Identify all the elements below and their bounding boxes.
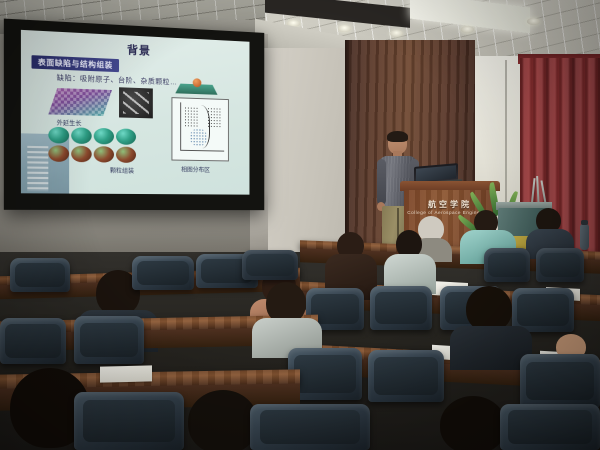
seat[interactable] xyxy=(520,354,600,408)
downlight-icon xyxy=(461,26,474,33)
seat[interactable] xyxy=(368,350,444,402)
slide-subtitle: 缺陷：吸附原子、台阶、杂质颗粒… xyxy=(57,73,178,88)
supported-cluster-figure xyxy=(175,77,217,94)
seat[interactable] xyxy=(370,286,432,330)
lecture-hall-photo: 背景 表面缺陷与结构组装 缺陷：吸附原子、台阶、杂质颗粒… 外延生长 颗粒组装 xyxy=(0,0,600,450)
projected-slide: 背景 表面缺陷与结构组装 缺陷：吸附原子、台阶、杂质颗粒… 外延生长 颗粒组装 xyxy=(21,30,250,195)
bottle-cap-icon xyxy=(581,220,588,225)
seat[interactable] xyxy=(536,248,584,282)
seat[interactable] xyxy=(250,404,370,450)
seat[interactable] xyxy=(242,250,298,280)
audience-head xyxy=(188,390,258,450)
seat[interactable] xyxy=(74,392,184,450)
seat[interactable] xyxy=(10,258,70,292)
presenter-hair xyxy=(387,131,408,142)
stm-micrograph-figure xyxy=(119,87,153,118)
nanoparticle-cluster-grid xyxy=(48,127,136,163)
slide-caption-right: 相图分布区 xyxy=(181,165,210,174)
slide-section-banner: 表面缺陷与结构组装 xyxy=(32,55,119,72)
seat[interactable] xyxy=(484,248,530,282)
seat[interactable] xyxy=(512,288,574,332)
lattice-surface-figure xyxy=(48,88,112,116)
slide-caption-center: 颗粒组装 xyxy=(110,166,134,175)
paper-sheet[interactable] xyxy=(100,365,152,382)
downlight-icon xyxy=(338,25,351,32)
seat[interactable] xyxy=(132,256,194,290)
seat[interactable] xyxy=(500,404,600,450)
water-bottle[interactable] xyxy=(580,224,589,250)
downlight-icon xyxy=(390,30,403,37)
audience-head xyxy=(440,396,506,450)
presenter-left-arm xyxy=(377,159,386,205)
seat[interactable] xyxy=(74,316,144,364)
phase-diagram-figure xyxy=(171,97,228,161)
projection-screen: 背景 表面缺陷与结构组装 缺陷：吸附原子、台阶、杂质颗粒… 外延生长 颗粒组装 xyxy=(4,19,264,211)
downlight-icon xyxy=(527,18,540,25)
seat[interactable] xyxy=(0,318,66,364)
